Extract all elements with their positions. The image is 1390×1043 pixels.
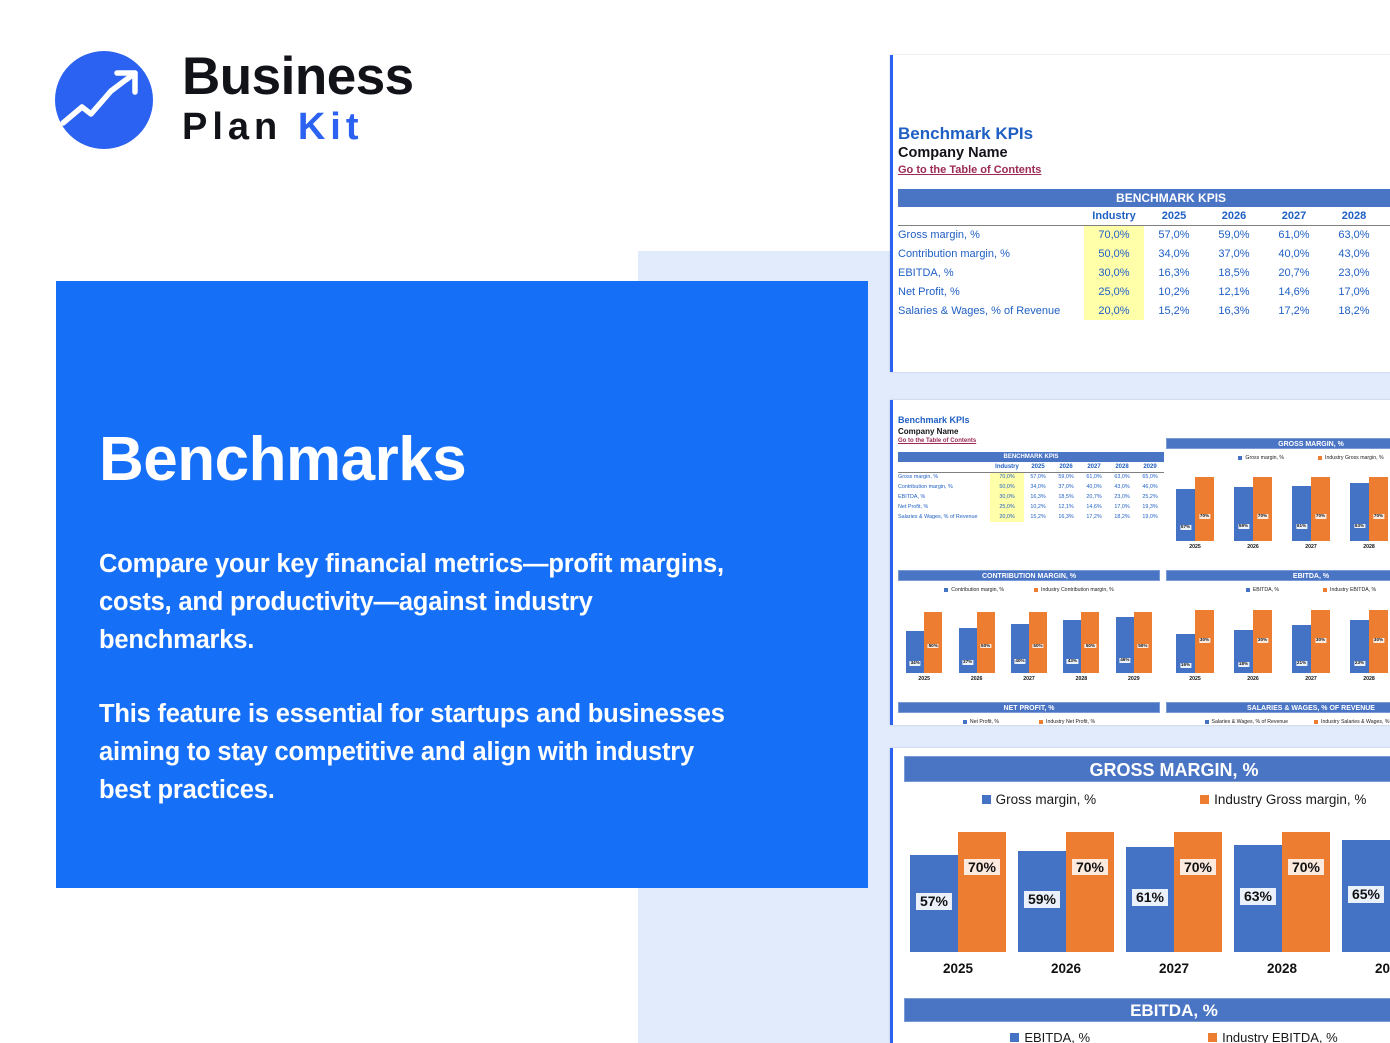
legend-item-series: Gross margin, % — [982, 792, 1097, 807]
bar-series[interactable]: 57% — [1176, 489, 1195, 541]
bar-group[interactable]: 43% 50% 2028 — [1055, 600, 1107, 682]
bar-series[interactable]: 16% — [1176, 634, 1195, 673]
chart-legend: Net Profit, % Industry Net Profit, % — [898, 716, 1160, 725]
bar-series[interactable]: 59% — [1234, 487, 1253, 541]
sheet-header-2: Benchmark KPIs Company Name Go to the Ta… — [898, 414, 976, 446]
th-2026: 2026 — [1052, 462, 1080, 472]
legend-swatch-icon — [944, 588, 948, 592]
chart-plot-area: 57% 70% 2025 59% 70% 2026 61% — [904, 816, 1390, 1002]
cell-value: 17,2% — [1264, 301, 1324, 320]
spreadsheet-panel-dashboard[interactable]: Benchmark KPIs Company Name Go to the Ta… — [890, 400, 1390, 725]
category-label: 2026 — [1051, 961, 1081, 976]
category-label: 2028 — [1076, 676, 1088, 682]
category-label: 2029 — [1375, 961, 1390, 976]
legend-label: Industry Gross margin, % — [1325, 455, 1384, 461]
cell-value: 65,0% — [1384, 225, 1390, 244]
chart-gross-margin-mini[interactable]: GROSS MARGIN, % Gross margin, % Industry… — [1166, 438, 1390, 568]
cell-value: 43,0% — [1324, 244, 1384, 263]
legend-swatch-icon — [1034, 588, 1038, 592]
legend-item-series: Salaries & Wages, % of Revenue — [1205, 719, 1289, 725]
legend-swatch-icon — [1246, 588, 1250, 592]
category-label: 2026 — [971, 676, 983, 682]
legend-item-series: EBITDA, % — [1010, 1030, 1090, 1043]
category-label: 2028 — [1267, 961, 1297, 976]
cell-value: 34,0% — [1024, 482, 1052, 492]
spreadsheet-panel-chart-zoom[interactable]: GROSS MARGIN, % Gross margin, % Industry… — [890, 748, 1390, 1043]
cell-value: 46,0% — [1384, 244, 1390, 263]
bar-group[interactable]: 59% 70% 2026 — [1224, 468, 1282, 550]
bar-series[interactable]: 40% — [1011, 624, 1029, 673]
chart-plot-area: 16% 30% 2025 18% 30% 2026 21% 30% 2027 2… — [1166, 600, 1390, 700]
chart-ebitda-large[interactable]: EBITDA, % EBITDA, % Industry EBITDA, % — [904, 998, 1390, 1043]
legend-label: Salaries & Wages, % of Revenue — [1212, 719, 1289, 725]
legend-item-series: Contribution margin, % — [944, 587, 1004, 593]
cell-industry: 25,0% — [990, 502, 1024, 512]
chart-legend: Contribution margin, % Industry Contribu… — [898, 584, 1160, 596]
th-2029: 2029 — [1136, 462, 1164, 472]
th-blank — [898, 462, 990, 472]
legend-item-industry: Industry Gross margin, % — [1200, 792, 1366, 807]
bar-industry[interactable]: 30% — [1311, 610, 1330, 674]
chart-net-profit-mini[interactable]: NET PROFIT, % Net Profit, % Industry Net… — [898, 702, 1160, 725]
cell-value: 16,3% — [1024, 492, 1052, 502]
chart-title: SALARIES & WAGES, % OF REVENUE — [1166, 702, 1390, 713]
legend-swatch-icon — [1323, 588, 1327, 592]
sheet-title: Benchmark KPIs — [898, 414, 976, 426]
category-label: 2027 — [1305, 676, 1317, 682]
row-label: Contribution margin, % — [898, 482, 990, 492]
cell-value: 63,0% — [1108, 472, 1136, 482]
cell-value: 43,0% — [1108, 482, 1136, 492]
bar-industry[interactable]: 50% — [1134, 612, 1152, 673]
legend-label: Industry EBITDA, % — [1222, 1030, 1338, 1043]
cell-value: 19,3% — [1136, 502, 1164, 512]
bar-group[interactable]: 23% 30% 2028 — [1340, 600, 1390, 682]
hero-paragraph-1: Compare your key financial metrics—profi… — [99, 545, 739, 659]
chart-plot-area: 57% 70% 2025 59% 70% 2026 61% 70% 2027 6… — [1166, 468, 1390, 568]
cell-industry: 50,0% — [1084, 244, 1144, 263]
table-row[interactable]: Net Profit, % 25,0% 10,2% 12,1% 14,6% 17… — [898, 502, 1164, 512]
legend-swatch-icon — [1200, 795, 1209, 804]
legend-swatch-icon — [1010, 1033, 1019, 1042]
bar-series[interactable]: 37% — [959, 628, 977, 673]
cell-value: 59,0% — [1204, 225, 1264, 244]
chart-legend: Gross margin, % Industry Gross margin, % — [904, 788, 1390, 810]
th-2025: 2025 — [1144, 207, 1204, 225]
row-label: Net Profit, % — [898, 502, 990, 512]
panel-left-edge — [890, 55, 893, 372]
bar-industry[interactable]: 70% — [1369, 477, 1388, 541]
bar-industry[interactable]: 30% — [1369, 610, 1388, 674]
cell-value: 37,0% — [1204, 244, 1264, 263]
legend-label: Industry Salaries & Wages, % of Revenue — [1321, 719, 1390, 725]
table-header-row: Industry 2025 2026 2027 2028 2029 — [898, 462, 1164, 472]
cell-value: 10,2% — [1144, 282, 1204, 301]
cell-value: 16,3% — [1204, 301, 1264, 320]
bar-industry[interactable]: 70% — [1253, 477, 1272, 541]
sheet-header-1: Benchmark KPIs Company Name Go to the Ta… — [898, 123, 1041, 178]
logo-circle — [55, 51, 153, 149]
cell-value: 20,7% — [1264, 263, 1324, 282]
chart-title: GROSS MARGIN, % — [904, 756, 1390, 782]
legend-item-industry: Industry EBITDA, % — [1208, 1030, 1338, 1043]
th-2026: 2026 — [1204, 207, 1264, 225]
cell-value: 65,0% — [1136, 472, 1164, 482]
chart-plot-area: 34% 50% 2025 37% 50% 2026 40% 50% 2027 4… — [898, 600, 1160, 700]
legend-label: Contribution margin, % — [951, 587, 1004, 593]
legend-item-series: EBITDA, % — [1246, 587, 1279, 593]
row-label: Net Profit, % — [898, 282, 1084, 301]
chart-title: NET PROFIT, % — [898, 702, 1160, 713]
th-2028: 2028 — [1108, 462, 1136, 472]
th-2025: 2025 — [1024, 462, 1052, 472]
legend-swatch-icon — [1039, 720, 1043, 724]
bar-industry[interactable]: 70% — [1311, 477, 1330, 541]
legend-label: Industry EBITDA, % — [1330, 587, 1376, 593]
table-row[interactable]: EBITDA, % 30,0% 16,3% 18,5% 20,7% 23,0% … — [898, 263, 1390, 282]
cell-value: 18,5% — [1204, 263, 1264, 282]
cell-value: 19,3% — [1384, 282, 1390, 301]
table-band-label: BENCHMARK KPIS — [898, 452, 1164, 462]
cell-value: 63,0% — [1324, 225, 1384, 244]
cell-value: 40,0% — [1264, 244, 1324, 263]
bar-series[interactable]: 46% — [1116, 617, 1134, 673]
category-label: 2025 — [943, 961, 973, 976]
brand-logo[interactable]: Business Plan Kit — [55, 48, 455, 152]
bar-group[interactable]: 18% 30% 2026 — [1224, 600, 1282, 682]
bar-group[interactable]: 61% 70% 2027 — [1282, 468, 1340, 550]
cell-value: 16,3% — [1144, 263, 1204, 282]
legend-label: Industry Net Profit, % — [1046, 719, 1095, 725]
chart-legend: EBITDA, % Industry EBITDA, % — [904, 1027, 1390, 1043]
cell-value: 14,6% — [1264, 282, 1324, 301]
cell-value: 18,2% — [1108, 512, 1136, 522]
bar-series[interactable]: 63% — [1350, 483, 1369, 541]
cell-industry: 25,0% — [1084, 282, 1144, 301]
table-row[interactable]: EBITDA, % 30,0% 16,3% 18,5% 20,7% 23,0% … — [898, 492, 1164, 502]
legend-label: Industry Contribution margin, % — [1041, 587, 1114, 593]
cell-value: 59,0% — [1052, 472, 1080, 482]
chart-contribution-margin-mini[interactable]: CONTRIBUTION MARGIN, % Contribution marg… — [898, 570, 1160, 700]
panel-left-edge — [890, 748, 893, 1043]
chart-title: EBITDA, % — [904, 998, 1390, 1022]
bar-series[interactable]: 59% — [1018, 851, 1066, 952]
category-label: 2025 — [918, 676, 930, 682]
bar-industry[interactable]: 50% — [977, 612, 995, 673]
logo-line-business: Business — [182, 48, 414, 106]
toc-link[interactable]: Go to the Table of Contents — [898, 163, 1041, 178]
page-title: Benchmarks — [99, 425, 739, 495]
bar-group[interactable]: 61% 70% 2027 — [1120, 816, 1228, 976]
legend-item-series: Net Profit, % — [963, 719, 999, 725]
bar-group[interactable]: 63% 70% 2028 — [1340, 468, 1390, 550]
kpi-table[interactable]: BENCHMARK KPIS Industry 2025 2026 2027 2… — [898, 189, 1390, 320]
cell-value: 25,2% — [1136, 492, 1164, 502]
cell-value: 19,0% — [1136, 512, 1164, 522]
legend-swatch-icon — [982, 795, 991, 804]
category-label: 2027 — [1159, 961, 1189, 976]
row-label: Gross margin, % — [898, 472, 990, 482]
bar-series[interactable]: 23% — [1350, 620, 1369, 673]
bar-series[interactable]: 43% — [1063, 620, 1081, 673]
chart-title: GROSS MARGIN, % — [1166, 438, 1390, 449]
category-label: 2029 — [1128, 676, 1140, 682]
legend-label: EBITDA, % — [1024, 1030, 1090, 1043]
cell-industry: 20,0% — [1084, 301, 1144, 320]
bar-industry[interactable]: 50% — [1029, 612, 1047, 673]
logo-word-kit: Kit — [298, 106, 364, 148]
hero-paragraph-2: This feature is essential for startups a… — [99, 695, 739, 809]
row-label: EBITDA, % — [898, 263, 1084, 282]
bar-industry[interactable]: 70% — [1174, 832, 1222, 952]
legend-item-industry: Industry Salaries & Wages, % of Revenue — [1314, 719, 1390, 725]
cell-value: 12,1% — [1204, 282, 1264, 301]
cell-value: 34,0% — [1144, 244, 1204, 263]
cell-value: 18,2% — [1324, 301, 1384, 320]
bar-group[interactable]: 16% 30% 2025 — [1166, 600, 1224, 682]
legend-label: Industry Gross margin, % — [1214, 792, 1366, 807]
table-band-row: BENCHMARK KPIS — [898, 452, 1164, 462]
table-row[interactable]: Net Profit, % 25,0% 10,2% 12,1% 14,6% 17… — [898, 282, 1390, 301]
toc-link[interactable]: Go to the Table of Contents — [898, 437, 976, 446]
logo-wordmark: Business Plan Kit — [182, 48, 414, 149]
row-label: Salaries & Wages, % of Revenue — [898, 512, 990, 522]
bar-group[interactable]: 21% 30% 2027 — [1282, 600, 1340, 682]
cell-value: 10,2% — [1024, 502, 1052, 512]
bar-groups: 34% 50% 2025 37% 50% 2026 40% 50% 2027 4… — [898, 600, 1160, 682]
cell-value: 57,0% — [1024, 472, 1052, 482]
bar-industry[interactable]: 50% — [1081, 612, 1099, 673]
category-label: 2028 — [1363, 544, 1375, 550]
table-row[interactable]: Salaries & Wages, % of Revenue 20,0% 15,… — [898, 512, 1164, 522]
cell-industry: 70,0% — [990, 472, 1024, 482]
sheet-company: Company Name — [898, 426, 976, 437]
bar-series[interactable]: 61% — [1126, 847, 1174, 952]
bar-group[interactable]: 63% 70% 2028 — [1228, 816, 1336, 976]
legend-item-series: Gross margin, % — [1238, 455, 1284, 461]
bar-group[interactable]: 40% 50% 2027 — [1003, 600, 1055, 682]
table-band-label: BENCHMARK KPIS — [898, 189, 1390, 207]
category-label: 2027 — [1305, 544, 1317, 550]
bar-series[interactable]: 63% — [1234, 845, 1282, 952]
sheet-title: Benchmark KPIs — [898, 123, 1041, 144]
legend-swatch-icon — [963, 720, 967, 724]
logo-line-plan-kit: Plan Kit — [182, 105, 414, 149]
category-label: 2026 — [1247, 676, 1259, 682]
cell-value: 15,2% — [1024, 512, 1052, 522]
bar-group[interactable]: 34% 50% 2025 — [898, 600, 950, 682]
bar-group[interactable]: 37% 50% 2026 — [950, 600, 1002, 682]
cell-industry: 30,0% — [1084, 263, 1144, 282]
panel-left-edge — [890, 400, 893, 725]
logo-word-plan: Plan — [182, 106, 282, 148]
bar-series[interactable]: 57% — [910, 855, 958, 952]
bar-series[interactable]: 21% — [1292, 625, 1311, 673]
legend-item-industry: Industry Contribution margin, % — [1034, 587, 1114, 593]
table-band-row: BENCHMARK KPIS — [898, 189, 1390, 207]
cell-industry: 20,0% — [990, 512, 1024, 522]
kpi-table-mini[interactable]: BENCHMARK KPIS Industry 2025 2026 2027 2… — [898, 452, 1164, 522]
table-header-row: Industry 2025 2026 2027 2028 2029 — [898, 207, 1390, 225]
legend-swatch-icon — [1208, 1033, 1217, 1042]
bar-industry[interactable]: 70% — [1195, 477, 1214, 541]
cell-value: 23,0% — [1324, 263, 1384, 282]
cell-value: 16,3% — [1052, 512, 1080, 522]
cell-industry: 70,0% — [1084, 225, 1144, 244]
cell-value: 40,0% — [1080, 482, 1108, 492]
row-label: EBITDA, % — [898, 492, 990, 502]
table-row[interactable]: Gross margin, % 70,0% 57,0% 59,0% 61,0% … — [898, 472, 1164, 482]
legend-item-industry: Industry EBITDA, % — [1323, 587, 1376, 593]
bar-series[interactable]: 34% — [906, 631, 924, 673]
sheet-company: Company Name — [898, 144, 1041, 163]
legend-swatch-icon — [1238, 456, 1242, 460]
cell-value: 14,6% — [1080, 502, 1108, 512]
legend-swatch-icon — [1205, 720, 1209, 724]
bar-industry[interactable]: 70% — [1066, 832, 1114, 952]
bar-industry[interactable]: 70% — [958, 832, 1006, 952]
chart-gross-margin-large[interactable]: GROSS MARGIN, % Gross margin, % Industry… — [904, 756, 1390, 1002]
category-label: 2025 — [1189, 676, 1201, 682]
table-row[interactable]: Gross margin, % 70,0% 57,0% 59,0% 61,0% … — [898, 225, 1390, 244]
spreadsheet-panel-kpi-table[interactable]: Benchmark KPIs Company Name Go to the Ta… — [890, 55, 1390, 372]
th-2029: 2029 — [1384, 207, 1390, 225]
bar-group[interactable]: 57% 70% 2025 — [1166, 468, 1224, 550]
legend-item-industry: Industry Gross margin, % — [1318, 455, 1384, 461]
cell-value: 19,0% — [1384, 301, 1390, 320]
category-label: 2026 — [1247, 544, 1259, 550]
table-row[interactable]: Contribution margin, % 50,0% 34,0% 37,0%… — [898, 482, 1164, 492]
cell-value: 23,0% — [1108, 492, 1136, 502]
bar-series[interactable]: 65% — [1342, 840, 1390, 952]
chart-legend: EBITDA, % Industry EBITDA, % — [1166, 584, 1390, 596]
cell-value: 61,0% — [1264, 225, 1324, 244]
legend-label: Net Profit, % — [970, 719, 999, 725]
cell-value: 17,0% — [1324, 282, 1384, 301]
row-label: Contribution margin, % — [898, 244, 1084, 263]
chart-title: CONTRIBUTION MARGIN, % — [898, 570, 1160, 581]
hero-content: Benchmarks Compare your key financial me… — [99, 425, 739, 809]
legend-item-industry: Industry Net Profit, % — [1039, 719, 1095, 725]
cell-industry: 50,0% — [990, 482, 1024, 492]
bar-industry[interactable]: 30% — [1195, 610, 1214, 674]
category-label: 2028 — [1363, 676, 1375, 682]
category-label: 2027 — [1023, 676, 1035, 682]
bar-series[interactable]: 61% — [1292, 486, 1311, 541]
bar-group[interactable]: 57% 70% 2025 — [904, 816, 1012, 976]
cell-value: 17,0% — [1108, 502, 1136, 512]
cell-value: 18,5% — [1052, 492, 1080, 502]
bar-group[interactable]: 46% 50% 2029 — [1108, 600, 1160, 682]
legend-swatch-icon — [1318, 456, 1322, 460]
category-label: 2025 — [1189, 544, 1201, 550]
cell-value: 37,0% — [1052, 482, 1080, 492]
cell-value: 12,1% — [1052, 502, 1080, 512]
bar-groups: 57% 70% 2025 59% 70% 2026 61% 70% 2027 6… — [1166, 468, 1390, 550]
legend-swatch-icon — [1314, 720, 1318, 724]
bar-industry[interactable]: 50% — [924, 612, 942, 673]
bar-group[interactable]: 65% 70% 2029 — [1336, 816, 1390, 976]
legend-label: EBITDA, % — [1253, 587, 1279, 593]
cell-industry: 30,0% — [990, 492, 1024, 502]
bar-series[interactable]: 18% — [1234, 630, 1253, 673]
table-row[interactable]: Contribution margin, % 50,0% 34,0% 37,0%… — [898, 244, 1390, 263]
th-industry: Industry — [1084, 207, 1144, 225]
chart-ebitda-mini[interactable]: EBITDA, % EBITDA, % Industry EBITDA, % 1… — [1166, 570, 1390, 700]
cell-value: 57,0% — [1144, 225, 1204, 244]
bar-industry[interactable]: 30% — [1253, 610, 1272, 674]
th-2027: 2027 — [1080, 462, 1108, 472]
slide-canvas: Business Plan Kit Benchmarks Compare you… — [0, 0, 1390, 1043]
th-2028: 2028 — [1324, 207, 1384, 225]
th-industry: Industry — [990, 462, 1024, 472]
cell-value: 46,0% — [1136, 482, 1164, 492]
cell-value: 15,2% — [1144, 301, 1204, 320]
bar-groups: 57% 70% 2025 59% 70% 2026 61% — [904, 816, 1390, 976]
legend-label: Gross margin, % — [1245, 455, 1284, 461]
bar-groups: 16% 30% 2025 18% 30% 2026 21% 30% 2027 2… — [1166, 600, 1390, 682]
chart-title: EBITDA, % — [1166, 570, 1390, 581]
bar-group[interactable]: 59% 70% 2026 — [1012, 816, 1120, 976]
chart-legend: Gross margin, % Industry Gross margin, % — [1166, 452, 1390, 464]
cell-value: 20,7% — [1080, 492, 1108, 502]
th-2027: 2027 — [1264, 207, 1324, 225]
row-label: Salaries & Wages, % of Revenue — [898, 301, 1084, 320]
legend-label: Gross margin, % — [996, 792, 1097, 807]
th-blank — [898, 207, 1084, 225]
chart-legend: Salaries & Wages, % of Revenue Industry … — [1166, 716, 1390, 725]
cell-value: 61,0% — [1080, 472, 1108, 482]
row-label: Gross margin, % — [898, 225, 1084, 244]
bar-industry[interactable]: 70% — [1282, 832, 1330, 952]
table-row[interactable]: Salaries & Wages, % of Revenue 20,0% 15,… — [898, 301, 1390, 320]
chart-salaries-wages-mini[interactable]: SALARIES & WAGES, % OF REVENUE Salaries … — [1166, 702, 1390, 725]
cell-value: 25,2% — [1384, 263, 1390, 282]
cell-value: 17,2% — [1080, 512, 1108, 522]
